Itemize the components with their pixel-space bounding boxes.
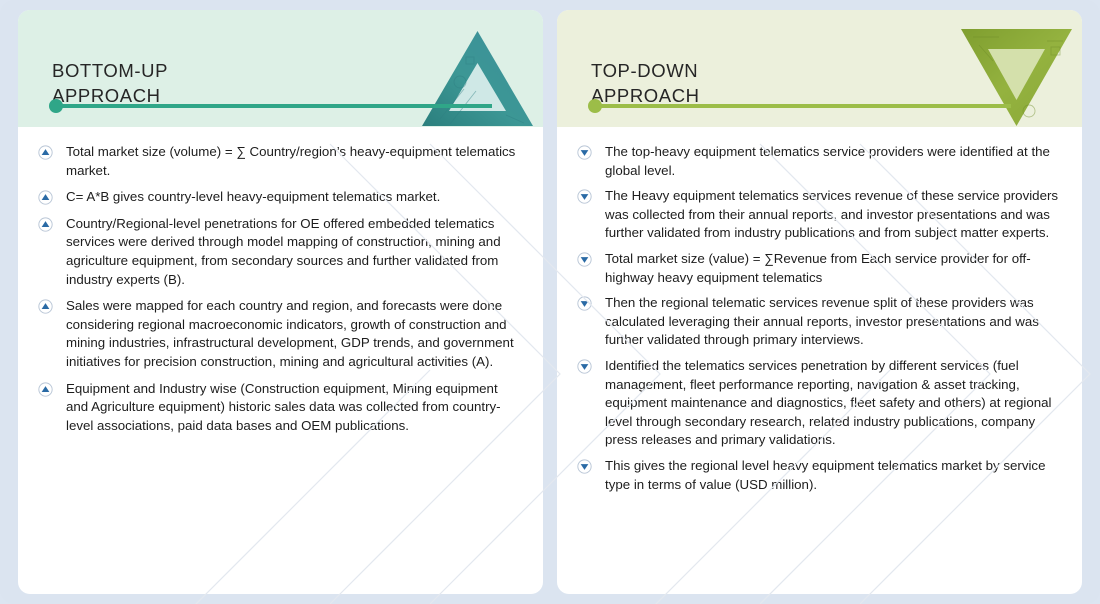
- bottom-up-card-header: BOTTOM-UP APPROACH: [18, 10, 543, 127]
- top-down-title: TOP-DOWN APPROACH: [591, 58, 700, 108]
- list-item: Sales were mapped for each country and r…: [34, 297, 521, 371]
- approach-cards: BOTTOM-UP APPROACH: [18, 10, 1082, 594]
- list-item: Then the regional telematic services rev…: [573, 294, 1060, 350]
- list-item: Country/Regional-level penetrations for …: [34, 215, 521, 289]
- list-item-text: Sales were mapped for each country and r…: [66, 297, 521, 371]
- triangle-down-bullet-icon: [577, 252, 592, 267]
- triangle-up-bullet-icon: [38, 217, 53, 232]
- list-item-text: Total market size (volume) = ∑ Country/r…: [66, 143, 521, 180]
- bottom-up-accent-dot: [49, 99, 63, 113]
- bottom-up-title: BOTTOM-UP APPROACH: [52, 58, 168, 108]
- bottom-up-card-body: Total market size (volume) = ∑ Country/r…: [18, 127, 543, 594]
- top-down-card-body: The top-heavy equipment telematics servi…: [557, 127, 1082, 594]
- list-item-text: This gives the regional level heavy equi…: [605, 457, 1060, 494]
- list-item-text: Then the regional telematic services rev…: [605, 294, 1060, 350]
- page-root: BOTTOM-UP APPROACH: [0, 0, 1100, 604]
- list-item-text: Total market size (value) = ∑Revenue fro…: [605, 250, 1060, 287]
- triangle-down-bullet-icon: [577, 189, 592, 204]
- top-down-accent-dot: [588, 99, 602, 113]
- list-item: Total market size (volume) = ∑ Country/r…: [34, 143, 521, 180]
- list-item-text: Equipment and Industry wise (Constructio…: [66, 380, 521, 436]
- list-item: Identified the telematics services penet…: [573, 357, 1060, 450]
- list-item-text: Identified the telematics services penet…: [605, 357, 1060, 450]
- bottom-up-bullet-list: Total market size (volume) = ∑ Country/r…: [34, 143, 521, 435]
- bottom-up-approach-card: BOTTOM-UP APPROACH: [18, 10, 543, 594]
- triangle-down-icon: [959, 27, 1074, 127]
- list-item: Equipment and Industry wise (Constructio…: [34, 380, 521, 436]
- triangle-down-bullet-icon: [577, 359, 592, 374]
- triangle-down-bullet-icon: [577, 459, 592, 474]
- list-item: This gives the regional level heavy equi…: [573, 457, 1060, 494]
- top-down-approach-card: TOP-DOWN APPROACH: [557, 10, 1082, 594]
- list-item: C= A*B gives country-level heavy-equipme…: [34, 188, 521, 207]
- triangle-down-bullet-icon: [577, 296, 592, 311]
- list-item-text: C= A*B gives country-level heavy-equipme…: [66, 188, 521, 207]
- triangle-up-bullet-icon: [38, 145, 53, 160]
- top-down-card-header: TOP-DOWN APPROACH: [557, 10, 1082, 127]
- list-item: The Heavy equipment telematics services …: [573, 187, 1060, 243]
- triangle-down-bullet-icon: [577, 145, 592, 160]
- list-item: The top-heavy equipment telematics servi…: [573, 143, 1060, 180]
- top-down-bullet-list: The top-heavy equipment telematics servi…: [573, 143, 1060, 494]
- triangle-up-bullet-icon: [38, 190, 53, 205]
- list-item-text: The top-heavy equipment telematics servi…: [605, 143, 1060, 180]
- list-item-text: The Heavy equipment telematics services …: [605, 187, 1060, 243]
- triangle-up-bullet-icon: [38, 299, 53, 314]
- triangle-up-icon: [420, 27, 535, 127]
- list-item-text: Country/Regional-level penetrations for …: [66, 215, 521, 289]
- list-item: Total market size (value) = ∑Revenue fro…: [573, 250, 1060, 287]
- triangle-up-bullet-icon: [38, 382, 53, 397]
